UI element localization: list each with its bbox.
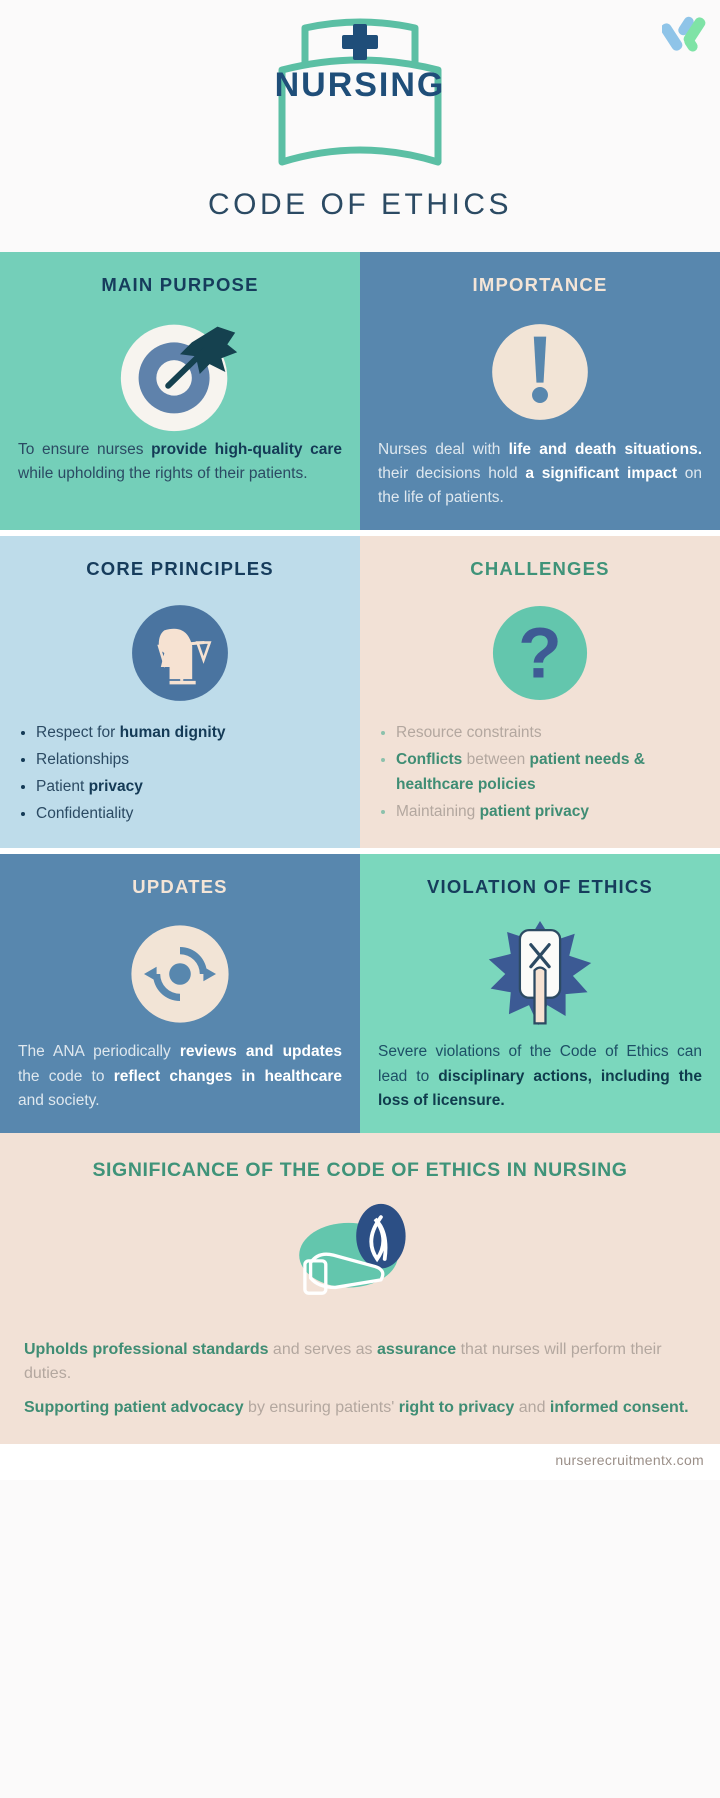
panel-body-importance: Nurses deal with life and death situatio… xyxy=(378,438,702,510)
panels-grid: MAIN PURPOSE To ensure nurses provide hi… xyxy=(0,252,720,1133)
list-item: Maintaining patient privacy xyxy=(396,799,702,824)
list-item: Resource constraints xyxy=(396,720,702,745)
footer-website: nurserecruitmentx.com xyxy=(555,1452,704,1468)
exclamation-circle-icon xyxy=(378,306,702,438)
panel-title-core-principles: CORE PRINCIPLES xyxy=(18,558,342,580)
list-item: Respect for human dignity xyxy=(36,720,342,745)
panel-title-importance: IMPORTANCE xyxy=(378,274,702,296)
panel-body-main-purpose: To ensure nurses provide high-quality ca… xyxy=(18,438,342,486)
brand-x-logo-icon xyxy=(662,14,706,56)
significance-title: SIGNIFICANCE OF THE CODE OF ETHICS IN NU… xyxy=(24,1159,696,1182)
panel-core-principles: CORE PRINCIPLES Respect for human dignit… xyxy=(0,536,360,848)
significance-section: SIGNIFICANCE OF THE CODE OF ETHICS IN NU… xyxy=(0,1133,720,1444)
target-dart-icon xyxy=(18,306,342,438)
panel-main-purpose: MAIN PURPOSE To ensure nurses provide hi… xyxy=(0,252,360,530)
panel-body-updates: The ANA periodically reviews and updates… xyxy=(18,1040,342,1112)
panel-title-main-purpose: MAIN PURPOSE xyxy=(18,274,342,296)
list-item: Confidentiality xyxy=(36,801,342,826)
page-subtitle: CODE OF ETHICS xyxy=(0,188,720,222)
list-item: Relationships xyxy=(36,747,342,772)
panel-body-violation-of-ethics: Severe violations of the Code of Ethics … xyxy=(378,1040,702,1112)
infographic-page: NURSING CODE OF ETHICS MAIN PURPOSE To e… xyxy=(0,0,720,1798)
header: NURSING CODE OF ETHICS xyxy=(0,0,720,252)
refresh-cycle-icon xyxy=(18,908,342,1040)
panel-title-violation-of-ethics: VIOLATION OF ETHICS xyxy=(378,876,702,898)
panel-violation-of-ethics: VIOLATION OF ETHICS Severe violations of… xyxy=(360,854,720,1132)
nurse-cap-icon: NURSING xyxy=(210,10,510,170)
hand-holding-ribbon-icon xyxy=(24,1188,696,1328)
hand-tap-x-card-icon xyxy=(378,908,702,1040)
significance-paragraph-2: Supporting patient advocacy by ensuring … xyxy=(24,1396,696,1420)
bullet-list-challenges: Resource constraintsConflicts between pa… xyxy=(378,720,702,824)
list-item: Patient privacy xyxy=(36,774,342,799)
list-item: Conflicts between patient needs & health… xyxy=(396,747,702,797)
panel-challenges: CHALLENGES ? Resource constraintsConflic… xyxy=(360,536,720,848)
head-scales-icon xyxy=(18,590,342,716)
svg-text:?: ? xyxy=(518,613,562,693)
panel-updates: UPDATES The ANA periodically reviews and… xyxy=(0,854,360,1132)
footer: nurserecruitmentx.com xyxy=(0,1444,720,1480)
question-mark-circle-icon: ? xyxy=(378,590,702,716)
significance-paragraph-1: Upholds professional standards and serve… xyxy=(24,1338,696,1386)
panel-title-challenges: CHALLENGES xyxy=(378,558,702,580)
panel-importance: IMPORTANCE Nurses deal with life and dea… xyxy=(360,252,720,530)
panel-title-updates: UPDATES xyxy=(18,876,342,898)
bullet-list-core-principles: Respect for human dignityRelationshipsPa… xyxy=(18,720,342,826)
